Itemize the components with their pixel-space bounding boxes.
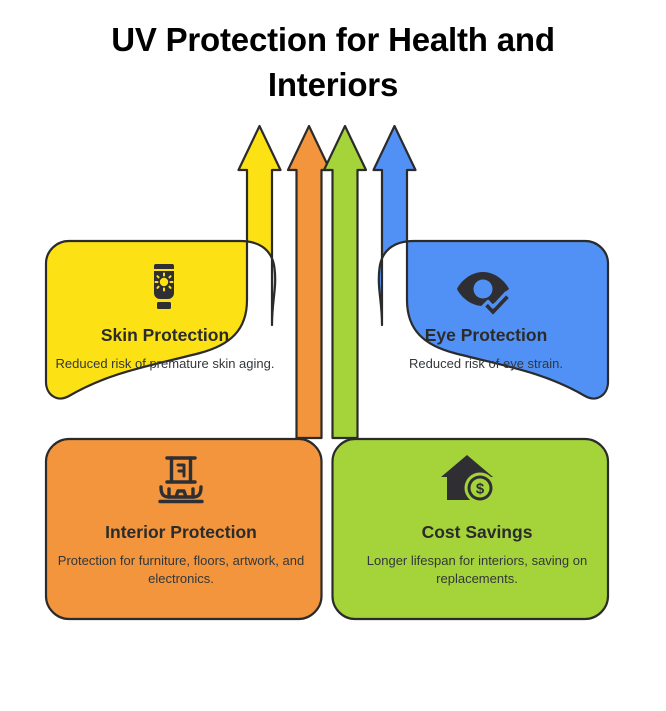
- card-description-skin-protection: Reduced risk of premature skin aging.: [47, 355, 283, 373]
- house-dollar-icon: $: [437, 450, 501, 506]
- card-title-eye-protection: Eye Protection: [368, 325, 604, 346]
- card-description-eye-protection: Reduced risk of eye strain.: [368, 355, 604, 373]
- card-text-skin-protection: Skin Protection Reduced risk of prematur…: [47, 325, 283, 373]
- card-text-interior-protection: Interior Protection Protection for furni…: [47, 522, 315, 589]
- desc-line-1: Protection for furniture, floors,: [58, 553, 229, 568]
- card-description-interior-protection: Protection for furniture, floors, artwor…: [47, 552, 315, 589]
- card-title-skin-protection: Skin Protection: [47, 325, 283, 346]
- infographic-canvas: UV Protection for Health and Interiors: [0, 0, 666, 711]
- card-text-cost-savings: Cost Savings Longer lifespan for interio…: [352, 522, 602, 589]
- card-description-cost-savings: Longer lifespan for interiors, saving on…: [352, 552, 602, 589]
- orange-arrow: [288, 126, 330, 438]
- eye-check-icon: [452, 262, 516, 318]
- desc-line-1: Reduced risk of premature: [56, 356, 209, 371]
- sunscreen-tube-icon: [132, 258, 196, 314]
- card-text-eye-protection: Eye Protection Reduced risk of eye strai…: [368, 325, 604, 373]
- green-arrow: [324, 126, 366, 438]
- desc-line-2: skin aging.: [212, 356, 274, 371]
- desc-line-1: Reduced risk of eye strain.: [409, 356, 563, 371]
- card-title-cost-savings: Cost Savings: [352, 522, 602, 543]
- svg-text:$: $: [476, 481, 485, 498]
- desc-line-1: Longer lifespan for interiors,: [367, 553, 528, 568]
- framed-art-sofa-icon: [149, 452, 213, 508]
- card-title-interior-protection: Interior Protection: [47, 522, 315, 543]
